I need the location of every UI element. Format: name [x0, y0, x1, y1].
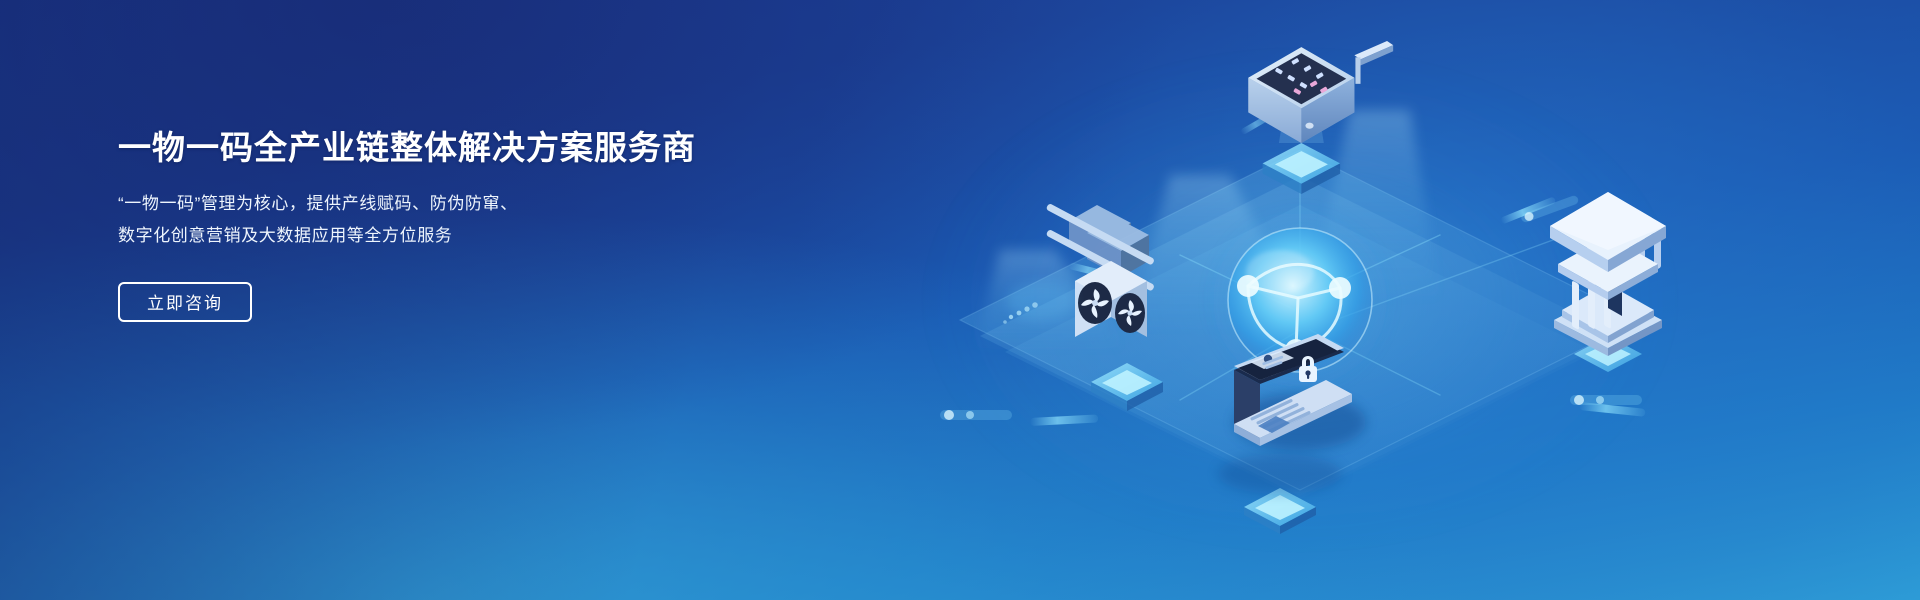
page-title: 一物一码全产业链整体解决方案服务商: [118, 128, 758, 168]
subtitle-line-1: “一物一码”管理为核心，提供产线赋码、防伪防窜、: [118, 188, 758, 220]
subtitle-line-2: 数字化创意营销及大数据应用等全方位服务: [118, 220, 758, 252]
hero-copy-block: 一物一码全产业链整体解决方案服务商 “一物一码”管理为核心，提供产线赋码、防伪防…: [118, 128, 758, 322]
consult-now-button[interactable]: 立即咨询: [118, 282, 252, 322]
hero-banner: 一物一码全产业链整体解决方案服务商 “一物一码”管理为核心，提供产线赋码、防伪防…: [0, 0, 1920, 600]
isometric-network-illustration: [880, 0, 1920, 600]
